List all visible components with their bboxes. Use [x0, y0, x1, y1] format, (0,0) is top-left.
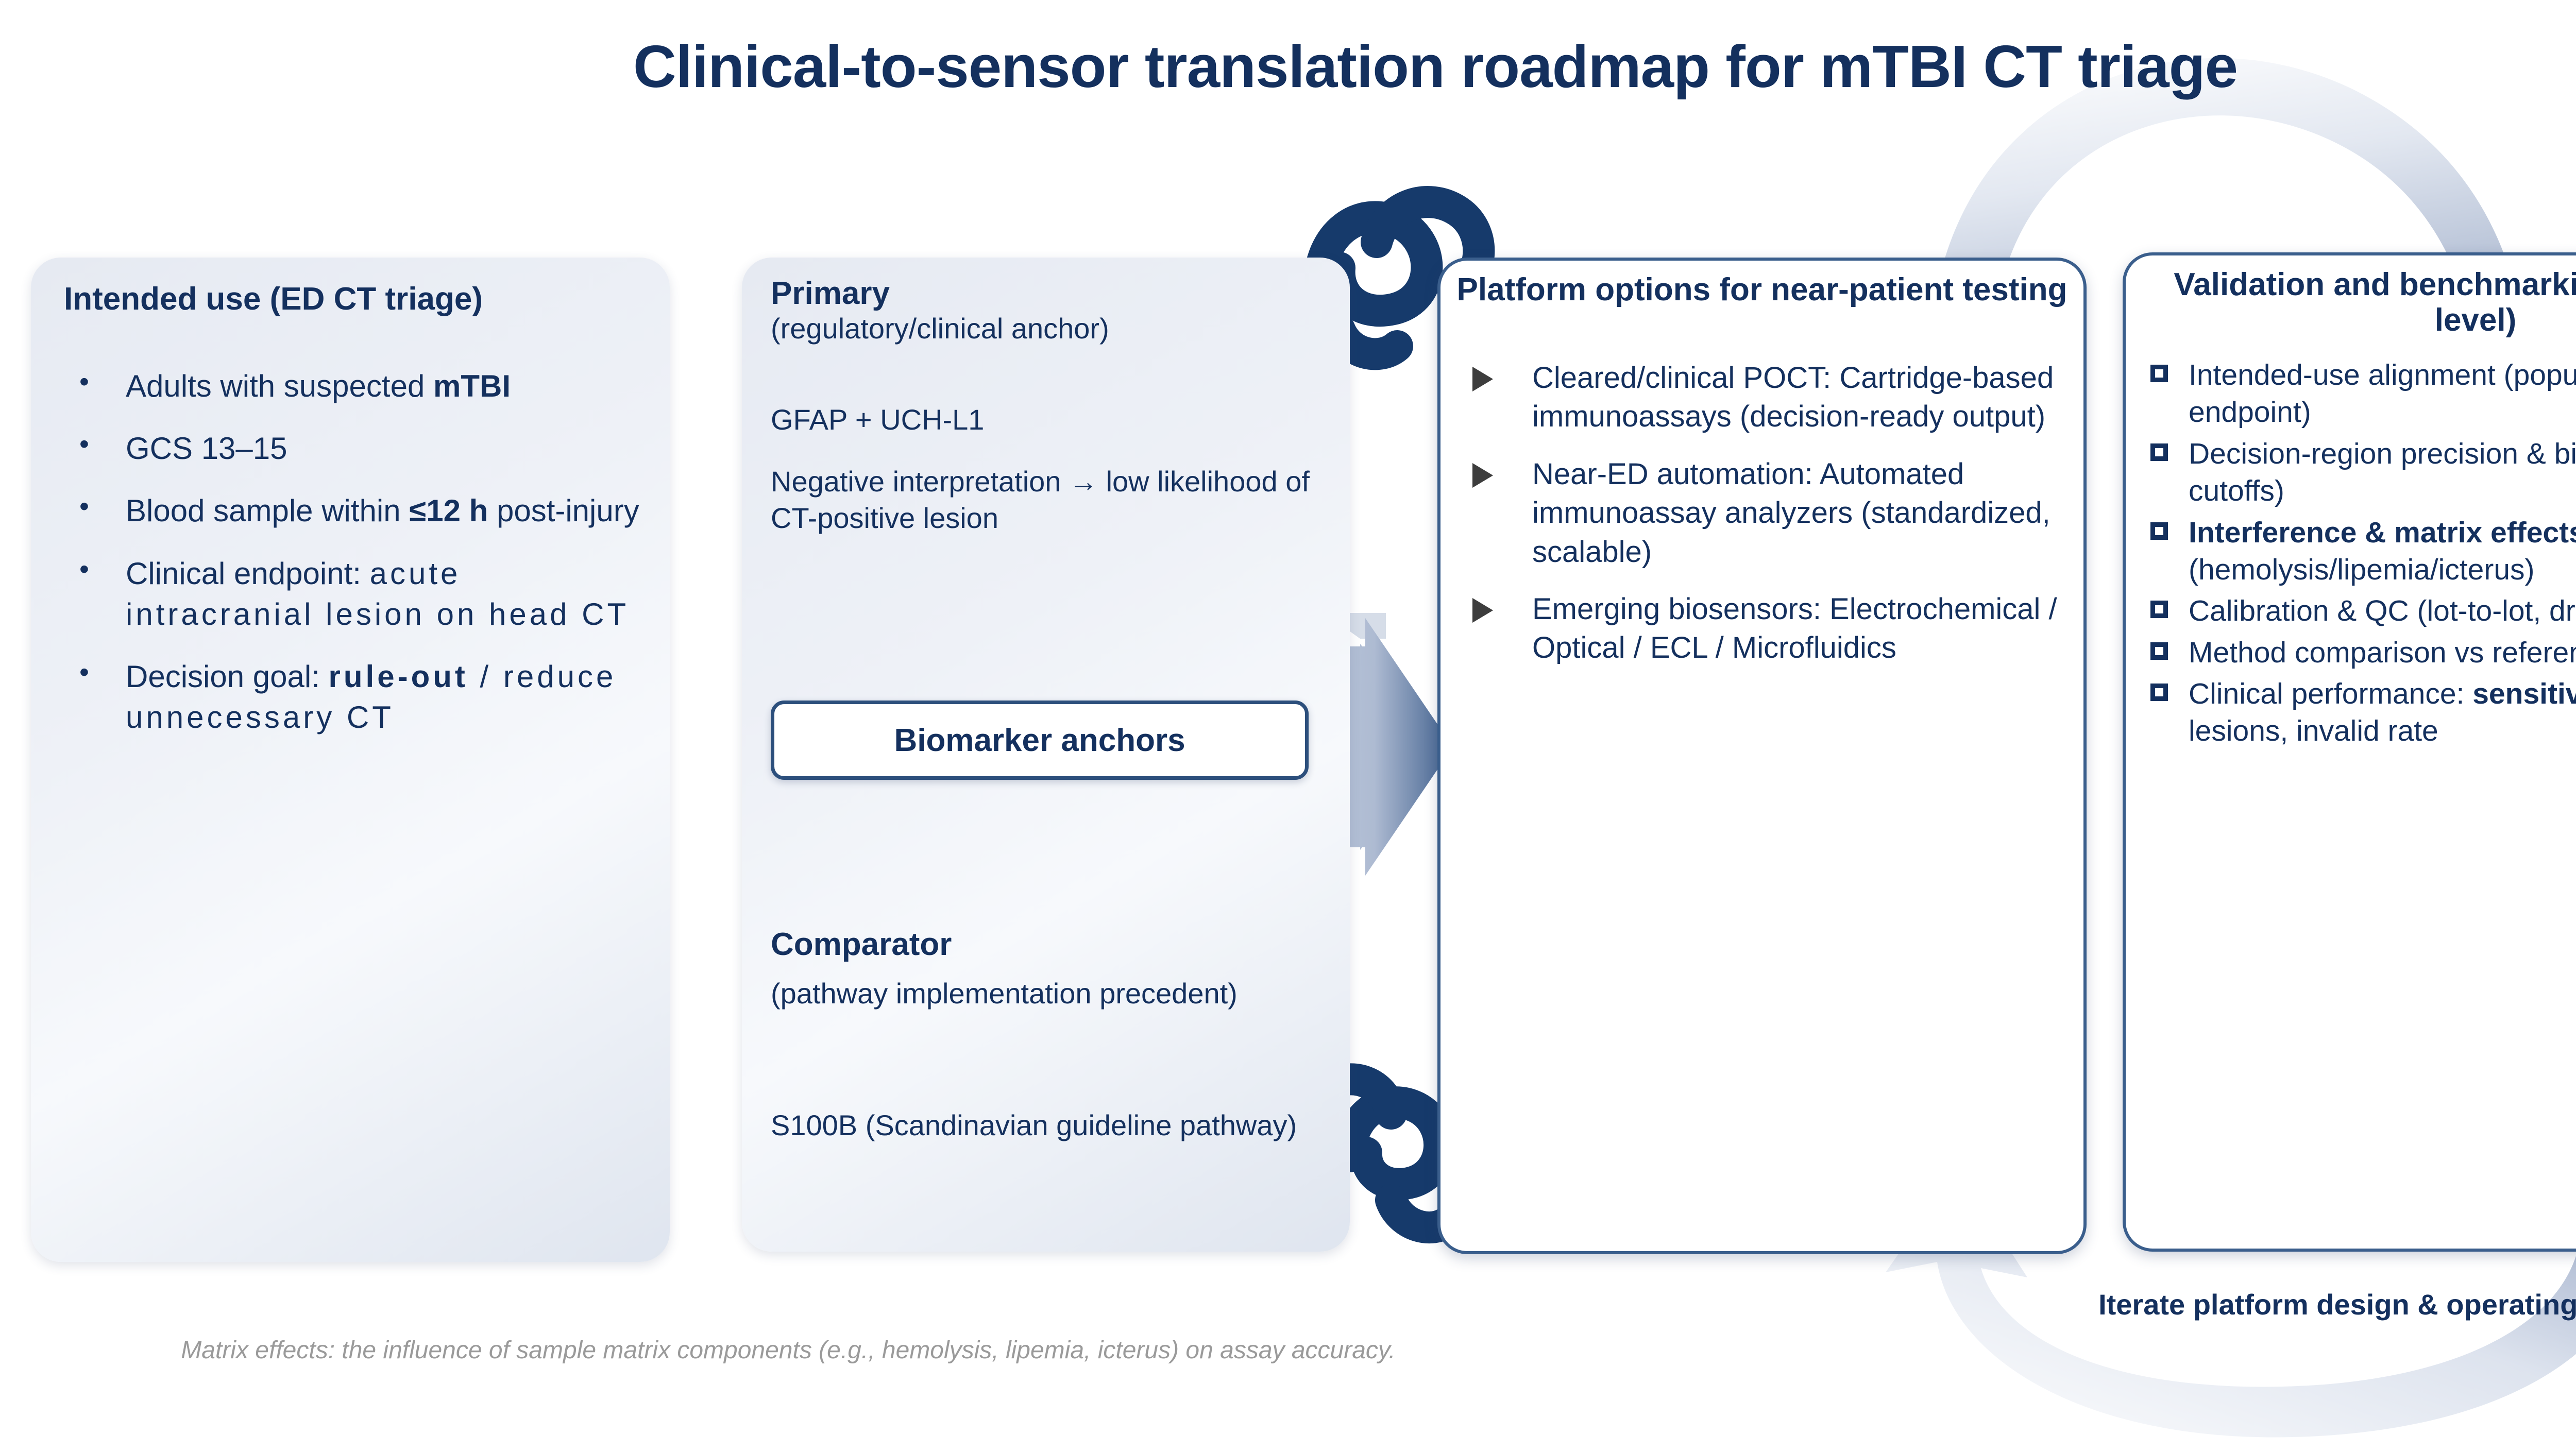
- primary-heading: Primary: [771, 276, 1329, 311]
- panel-intended-use: Intended use (ED CT triage) Adults with …: [31, 258, 670, 1262]
- primary-body-line1: GFAP + UCH-L1: [771, 402, 1329, 438]
- list-item: Method comparison vs reference assay: [2139, 634, 2576, 671]
- iterate-caption: Iterate platform design & operating poin…: [1963, 1288, 2576, 1321]
- list-item: Near-ED automation: Automated immunoassa…: [1456, 455, 2066, 571]
- list-item: Decision-region precision & bias (around…: [2139, 435, 2576, 510]
- square-checkbox-icon[interactable]: [2150, 365, 2168, 382]
- list-item: Interference & matrix effects (hemolysis…: [2139, 514, 2576, 589]
- list-item: Adults with suspected mTBI: [64, 366, 646, 406]
- chip-label: Biomarker anchors: [894, 722, 1185, 759]
- list-item: Blood sample within ≤12 h post-injury: [64, 490, 646, 531]
- list-item: Intended-use alignment (population, wind…: [2139, 356, 2576, 431]
- footnote-matrix-effects: Matrix effects: the influence of sample …: [46, 1334, 1530, 1366]
- triangle-bullet-icon: [1472, 463, 1493, 488]
- panel-platform-options: Platform options for near-patient testin…: [1437, 258, 2087, 1254]
- triangle-bullet-icon: [1472, 367, 1493, 391]
- square-checkbox-icon[interactable]: [2150, 601, 2168, 618]
- box4-title: Validation and benchmarking (decision-le…: [2136, 267, 2576, 338]
- box3-title: Platform options for near-patient testin…: [1453, 272, 2071, 308]
- list-item: Decision goal: rule-out / reduce unneces…: [64, 656, 646, 738]
- triangle-bullet-icon: [1472, 598, 1493, 623]
- panel-validation-benchmarking: Validation and benchmarking (decision-le…: [2123, 252, 2576, 1252]
- box2-primary-block: Primary (regulatory/clinical anchor): [771, 276, 1329, 347]
- square-checkbox-icon[interactable]: [2150, 443, 2168, 461]
- square-checkbox-icon[interactable]: [2150, 642, 2168, 660]
- panel-biomarker-anchors: Primary (regulatory/clinical anchor) GFA…: [742, 258, 1350, 1252]
- box4-checklist: Intended-use alignment (population, wind…: [2139, 356, 2576, 754]
- decorative-link-swirl-icon: [1332, 1079, 1453, 1227]
- list-item: Calibration & QC (lot-to-lot, drift cont…: [2139, 592, 2576, 629]
- box1-bullet-list: Adults with suspected mTBI GCS 13–15 Blo…: [64, 366, 646, 759]
- page-title: Clinical-to-sensor translation roadmap f…: [0, 32, 2576, 101]
- comparator-heading: Comparator: [771, 927, 1329, 962]
- comparator-subheading: (pathway implementation precedent): [771, 976, 1329, 1011]
- list-item: Clinical endpoint: acute intracranial le…: [64, 553, 646, 635]
- square-checkbox-icon[interactable]: [2150, 684, 2168, 701]
- list-item: Clinical performance: sensitivity/NPV fo…: [2139, 675, 2576, 750]
- primary-subheading: (regulatory/clinical anchor): [771, 311, 1329, 346]
- comparator-body: S100B (Scandinavian guideline pathway): [771, 1107, 1329, 1144]
- primary-body-line2: Negative interpretation → low likelihood…: [771, 464, 1329, 536]
- box1-title: Intended use (ED CT triage): [64, 281, 483, 317]
- biomarker-anchors-chip[interactable]: Biomarker anchors: [771, 701, 1309, 780]
- diagram-canvas: Clinical-to-sensor translation roadmap f…: [0, 0, 2576, 1452]
- list-item: Emerging biosensors: Electrochemical / O…: [1456, 590, 2066, 668]
- list-item: Cleared/clinical POCT: Cartridge-based i…: [1456, 358, 2066, 436]
- list-item: GCS 13–15: [64, 428, 646, 469]
- box3-bullet-list: Cleared/clinical POCT: Cartridge-based i…: [1456, 358, 2066, 686]
- square-checkbox-icon[interactable]: [2150, 522, 2168, 540]
